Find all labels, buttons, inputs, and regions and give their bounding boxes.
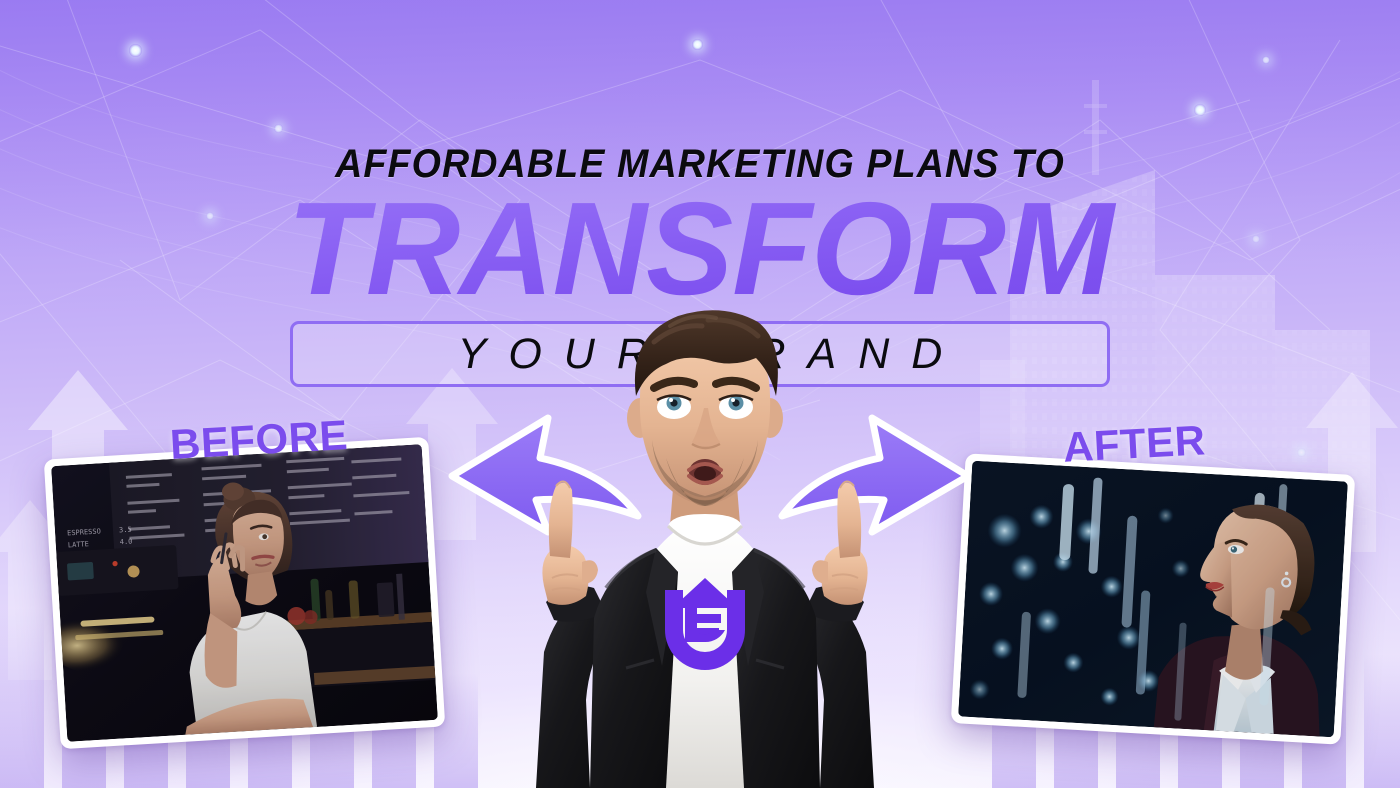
before-photo-frame: ESPRESSOLATTE 3.54.0: [51, 444, 438, 742]
network-node-icon: [692, 39, 703, 50]
network-node-icon: [274, 124, 283, 133]
page-title: TRANSFORM: [7, 183, 1393, 315]
network-node-icon: [129, 44, 142, 57]
before-photo: ESPRESSOLATTE 3.54.0: [51, 444, 438, 742]
banner-canvas: AFFORDABLE MARKETING PLANS TO TRANSFORM …: [0, 0, 1400, 788]
after-label: AFTER: [1062, 416, 1207, 471]
after-photo-card[interactable]: [951, 453, 1355, 744]
presenter-head: [627, 310, 783, 506]
after-photo-frame: [958, 461, 1348, 738]
after-photo: [958, 461, 1348, 738]
network-node-icon: [1262, 56, 1270, 64]
before-label: BEFORE: [169, 411, 349, 469]
before-photo-card[interactable]: ESPRESSOLATTE 3.54.0: [44, 437, 446, 749]
network-node-icon: [1297, 448, 1306, 457]
presenter-figure: [440, 300, 970, 788]
network-node-icon: [1194, 104, 1206, 116]
